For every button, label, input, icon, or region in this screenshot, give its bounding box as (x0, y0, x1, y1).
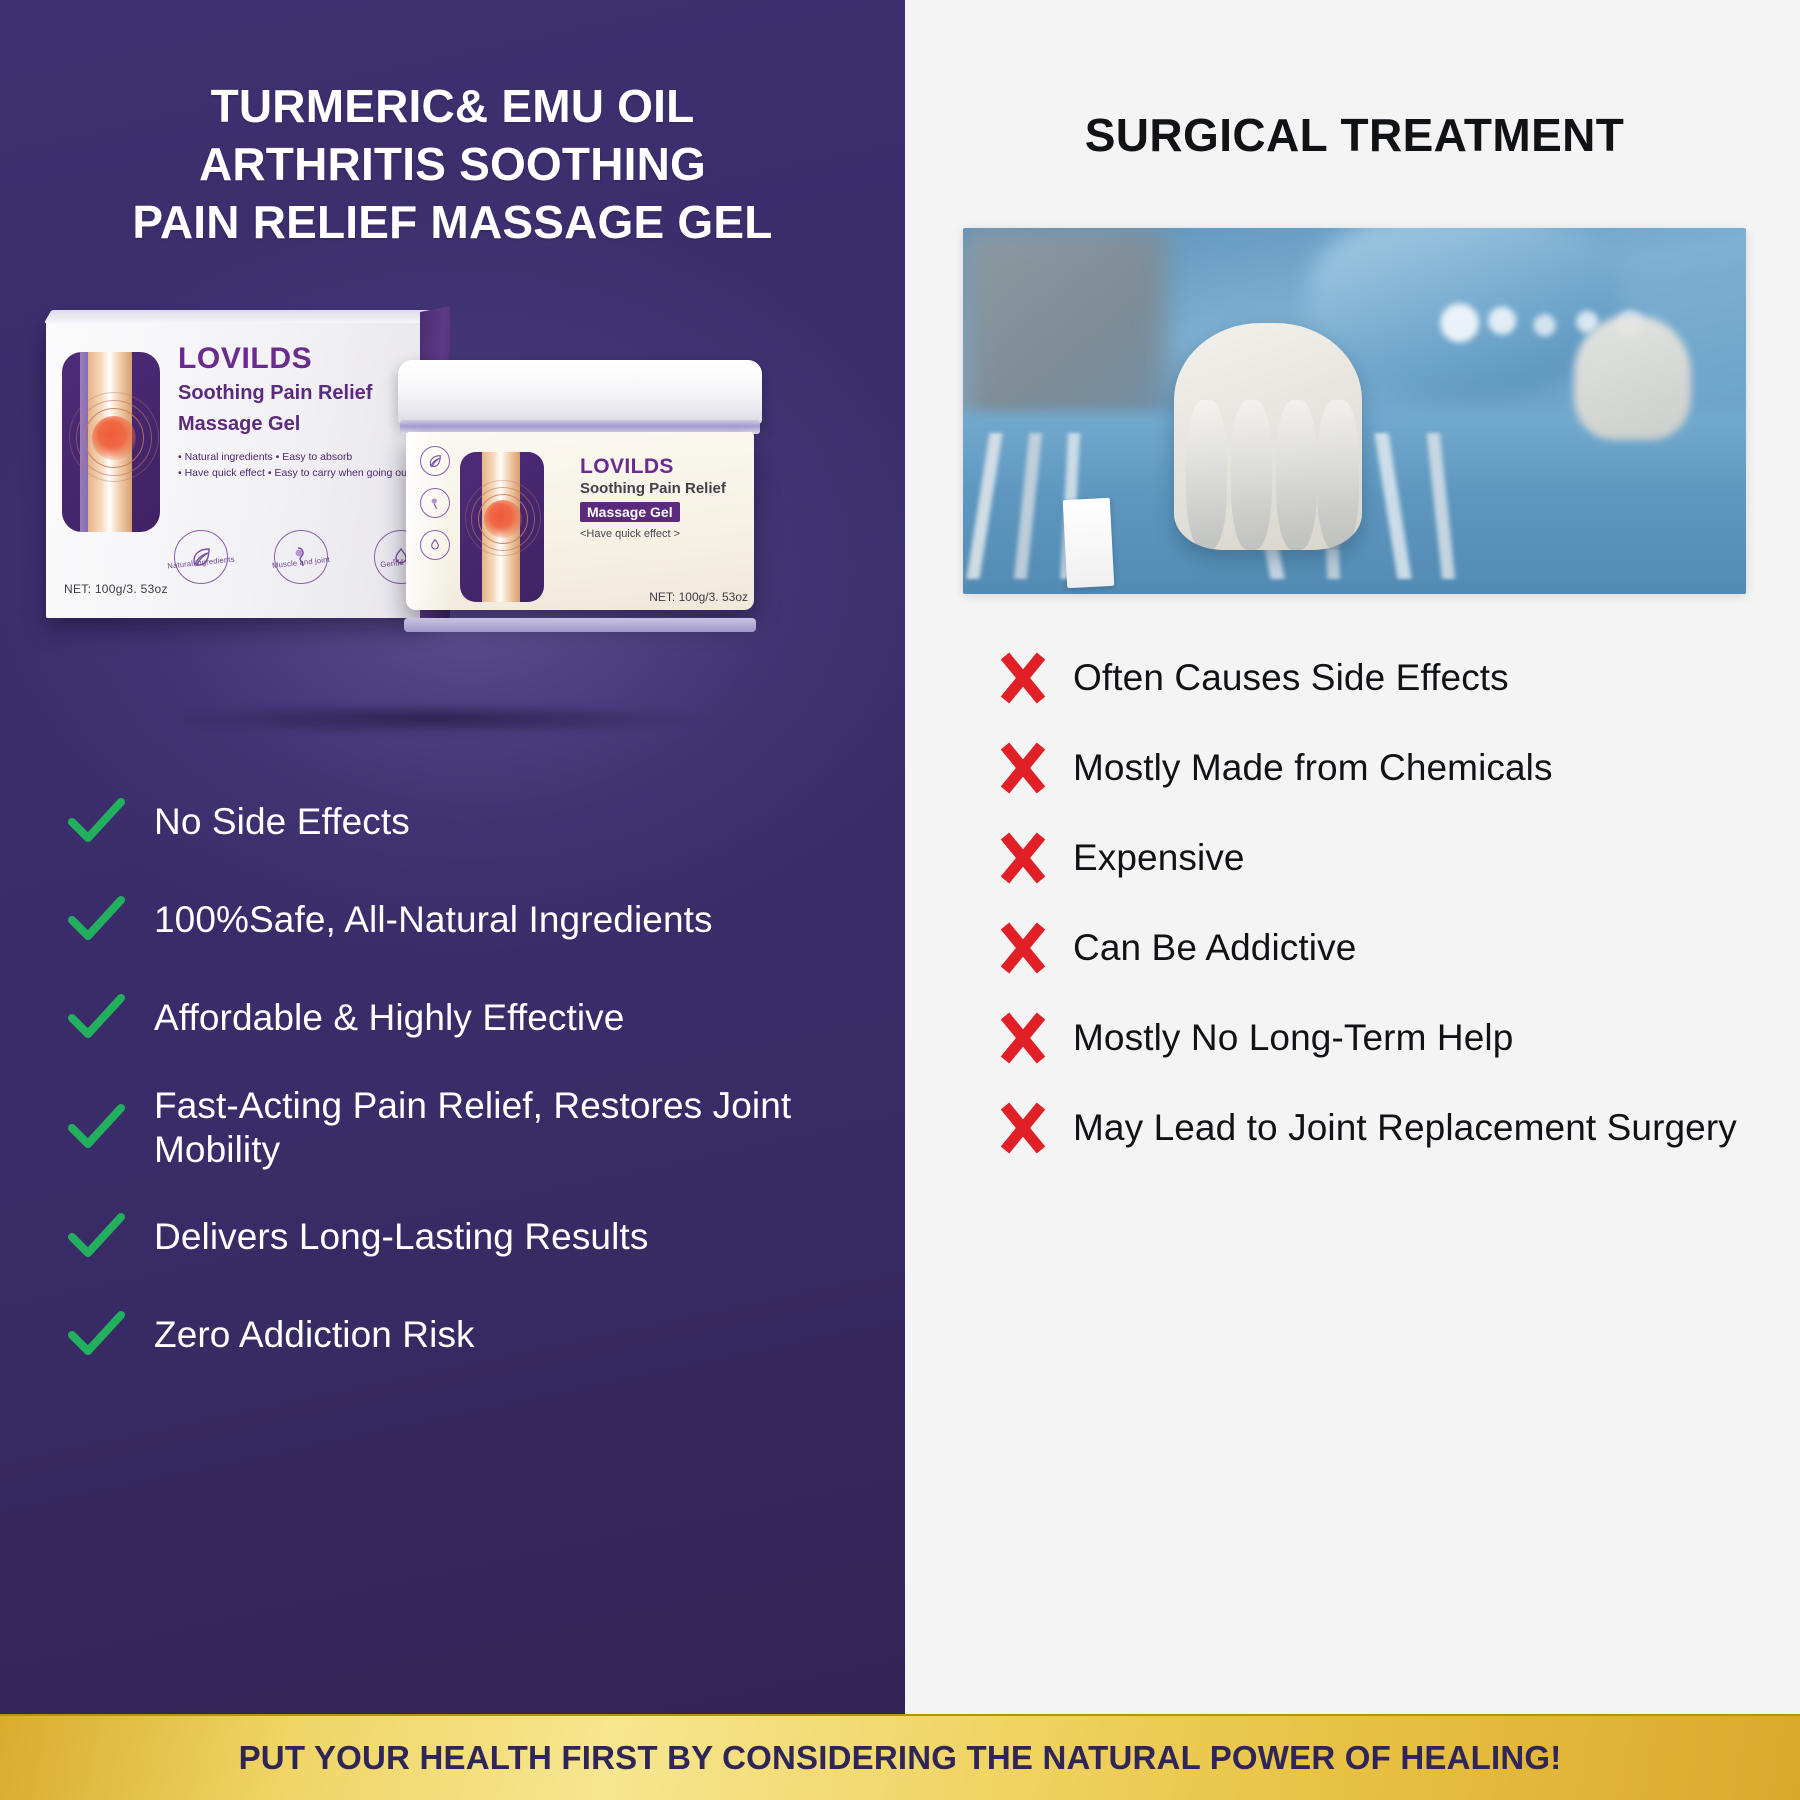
check-icon (64, 1096, 128, 1160)
natural-product-panel: TURMERIC& EMU OIL ARTHRITIS SOOTHING PAI… (0, 0, 905, 1714)
drawback-item: Often Causes Side Effects (995, 650, 1746, 706)
jar-lid (398, 360, 762, 424)
drawback-label: Often Causes Side Effects (1073, 656, 1509, 700)
check-icon (64, 1303, 128, 1367)
benefit-label: Affordable & Highly Effective (154, 996, 624, 1040)
benefit-label: Delivers Long-Lasting Results (154, 1215, 648, 1259)
check-icon (64, 790, 128, 854)
check-icon (64, 1205, 128, 1269)
check-icon (64, 986, 128, 1050)
comparison-columns: TURMERIC& EMU OIL ARTHRITIS SOOTHING PAI… (0, 0, 1800, 1714)
jar-droplet-icon (420, 530, 450, 560)
badge-natural-ingredients: Natural ingredients (174, 530, 228, 584)
box-bullet-line-1: • Natural ingredients • Easy to absorb (178, 449, 412, 465)
drawback-item: Expensive (995, 830, 1746, 886)
box-subtitle-line1: Soothing Pain Relief (178, 381, 412, 405)
x-icon (995, 830, 1051, 886)
x-icon (995, 650, 1051, 706)
benefit-item: Delivers Long-Lasting Results (64, 1205, 853, 1269)
badge-muscle-and-joint: Muscle and joint (274, 530, 328, 584)
jar-product-chip: Massage Gel (580, 502, 680, 522)
jar-knee-joint-icon (420, 488, 450, 518)
product-shadow (56, 696, 816, 742)
drawback-label: Can Be Addictive (1073, 926, 1356, 970)
x-icon (995, 920, 1051, 976)
box-net-weight: NET: 100g/3. 53oz (64, 582, 168, 596)
jar-leaf-icon (420, 446, 450, 476)
drawback-label: May Lead to Joint Replacement Surgery (1073, 1106, 1737, 1150)
background-gloved-hand (1574, 316, 1691, 440)
box-brand-name: LOVILDS (178, 344, 412, 374)
benefit-label: Fast-Acting Pain Relief, Restores Joint … (154, 1084, 853, 1171)
instrument-label-tag (1063, 498, 1115, 588)
benefit-label: No Side Effects (154, 800, 410, 844)
jar-base (404, 618, 756, 632)
box-certification-badges: Natural ingredients Muscle and joint (174, 530, 428, 584)
jar-tagline: <Have quick effect > (580, 528, 726, 540)
jar-label-text: LOVILDS Soothing Pain Relief Massage Gel… (580, 456, 726, 541)
benefit-item: Fast-Acting Pain Relief, Restores Joint … (64, 1084, 853, 1171)
surgical-photo (963, 228, 1746, 594)
product-jar: LOVILDS Soothing Pain Relief Massage Gel… (398, 360, 762, 624)
knee-pain-illustration (62, 352, 160, 532)
benefit-label: Zero Addiction Risk (154, 1313, 475, 1357)
left-panel-title: TURMERIC& EMU OIL ARTHRITIS SOOTHING PAI… (46, 60, 859, 252)
title-line-2: ARTHRITIS SOOTHING (46, 136, 859, 194)
surgical-treatment-panel: SURGICAL TREATMENT (905, 0, 1800, 1714)
jar-badge-column (420, 446, 450, 560)
benefit-label: 100%Safe, All-Natural Ingredients (154, 898, 713, 942)
x-icon (995, 740, 1051, 796)
box-feature-bullets: • Natural ingredients • Easy to absorb •… (178, 449, 412, 482)
right-panel-title: SURGICAL TREATMENT (963, 108, 1746, 162)
box-subtitle-line2: Massage Gel (178, 412, 412, 436)
product-box: LOVILDS Soothing Pain Relief Massage Gel… (46, 322, 424, 618)
benefit-item: Affordable & Highly Effective (64, 986, 853, 1050)
drawback-label: Mostly No Long-Term Help (1073, 1016, 1513, 1060)
footer-banner: PUT YOUR HEALTH FIRST BY CONSIDERING THE… (0, 1714, 1800, 1800)
jar-knee-illustration (460, 452, 544, 602)
benefit-item: Zero Addiction Risk (64, 1303, 853, 1367)
title-line-1: TURMERIC& EMU OIL (46, 78, 859, 136)
title-line-3: PAIN RELIEF MASSAGE GEL (46, 194, 859, 252)
drawbacks-list: Often Causes Side Effects Mostly Made fr… (963, 650, 1746, 1714)
footer-text: PUT YOUR HEALTH FIRST BY CONSIDERING THE… (239, 1739, 1562, 1777)
drawback-item: Can Be Addictive (995, 920, 1746, 976)
jar-brand-name: LOVILDS (580, 456, 726, 477)
benefit-item: No Side Effects (64, 790, 853, 854)
benefits-list: No Side Effects 100%Safe, All-Natural In… (46, 790, 859, 1714)
comparison-infographic: TURMERIC& EMU OIL ARTHRITIS SOOTHING PAI… (0, 0, 1800, 1800)
drawback-label: Expensive (1073, 836, 1245, 880)
drawback-label: Mostly Made from Chemicals (1073, 746, 1553, 790)
gloved-hand (1174, 323, 1362, 550)
check-icon (64, 888, 128, 952)
drawback-item: Mostly No Long-Term Help (995, 1010, 1746, 1066)
jar-subtitle: Soothing Pain Relief (580, 481, 726, 498)
box-bullet-line-2: • Have quick effect • Easy to carry when… (178, 465, 412, 481)
product-image: LOVILDS Soothing Pain Relief Massage Gel… (46, 316, 859, 736)
drawback-item: Mostly Made from Chemicals (995, 740, 1746, 796)
x-icon (995, 1010, 1051, 1066)
x-icon (995, 1100, 1051, 1156)
jar-net-weight: NET: 100g/3. 53oz (649, 590, 748, 604)
benefit-item: 100%Safe, All-Natural Ingredients (64, 888, 853, 952)
drawback-item: May Lead to Joint Replacement Surgery (995, 1100, 1746, 1156)
